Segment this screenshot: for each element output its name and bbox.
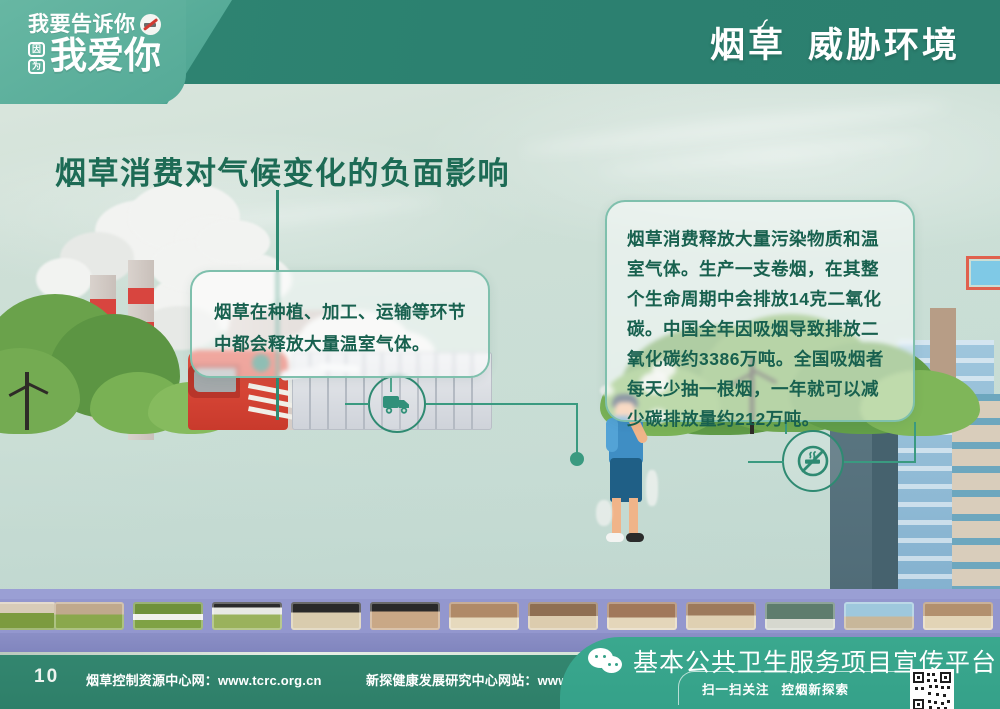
tree-trunk (25, 372, 29, 430)
wechat-icon (588, 648, 624, 674)
exhaled-smoke (646, 470, 658, 506)
footer-site-tcrc[interactable]: 烟草控制资源中心网：www.tcrc.org.cn (86, 670, 322, 689)
guardrail-gap (54, 602, 124, 630)
truck-icon-circle (368, 375, 426, 433)
guardrail-gap (133, 602, 203, 630)
billboard-screen (971, 261, 1000, 285)
guardrail-gap (291, 602, 361, 630)
header-title-part2: 威胁环境 (808, 26, 960, 65)
scan-label: 扫一扫关注控烟新探索 (702, 679, 849, 698)
qr-code[interactable] (910, 669, 954, 709)
wechat-promo-panel: 基本公共卫生服务项目宣传平台 扫一扫关注控烟新探索 (560, 637, 1000, 709)
person-shorts (610, 458, 642, 502)
guardrail-gap (844, 602, 914, 630)
sky-streak (520, 98, 949, 159)
person-shoe (626, 533, 644, 542)
guardrail-gap (370, 602, 440, 630)
connector-line-right-up (914, 422, 916, 463)
logo-line-2: 因 为 我爱你 (28, 38, 192, 74)
guardrail-gap (686, 602, 756, 630)
guardrail-gap (449, 602, 519, 630)
no-smoking-icon (140, 14, 161, 35)
connector-dot (570, 452, 584, 466)
callout-left: 烟草在种植、加工、运输等环节中都会释放大量温室气体。 (190, 270, 490, 378)
person-leg (612, 498, 621, 536)
connector-line-drop (576, 403, 578, 455)
scan-label-explore: 控烟新探索 (782, 683, 850, 697)
person-arm (606, 418, 618, 452)
person-leg (629, 498, 638, 536)
smoke-curl-icon (754, 18, 772, 34)
poster-canvas: 我要告诉你 因 为 我爱你 烟草威胁环境 烟草消费对气候变化的负面影响 (0, 0, 1000, 709)
connector-line-left-tail (345, 403, 369, 405)
guardrail-gap (212, 602, 282, 630)
scan-label-follow: 扫一扫关注 (702, 683, 770, 697)
guardrail-gap (0, 602, 56, 630)
callout-left-text: 烟草在种植、加工、运输等环节中都会释放大量温室气体。 (214, 296, 466, 360)
logo-line2-text: 我爱你 (50, 38, 161, 74)
logo-line1-text: 我要告诉你 (28, 14, 136, 35)
smoke-puff (196, 220, 270, 264)
guardrail-gap (607, 602, 677, 630)
truck-icon (382, 393, 412, 415)
guardrail-gap (923, 602, 993, 630)
logo-reason-char-2: 为 (28, 59, 45, 74)
guardrail-top (0, 589, 1000, 599)
logo-line-1: 我要告诉你 (28, 14, 192, 35)
connector-line-left-right (426, 403, 576, 405)
section-title: 烟草消费对气候变化的负面影响 (55, 148, 510, 193)
logo-reason-char-1: 因 (28, 42, 45, 57)
connector-line-right-tail (748, 461, 784, 463)
no-smoking-icon-circle (782, 430, 844, 492)
callout-right: 烟草消费释放大量污染物质和温室气体。生产一支卷烟，在其整个生命周期中会排放14克… (605, 200, 915, 422)
person-shoe (606, 533, 624, 542)
page-number: 10 (34, 666, 59, 688)
logo-reason-boxes: 因 为 (28, 42, 45, 74)
no-smoking-icon (795, 443, 831, 479)
header-title-part1: 烟草 (710, 26, 786, 65)
guardrail-gap (528, 602, 598, 630)
guardrail-gap (765, 602, 835, 630)
exhaled-smoke (596, 500, 612, 526)
callout-right-text: 烟草消费释放大量污染物质和温室气体。生产一支卷烟，在其整个生命周期中会排放14克… (627, 224, 893, 434)
campaign-logo: 我要告诉你 因 为 我爱你 (28, 14, 192, 90)
page-title: 烟草威胁环境 (710, 17, 960, 68)
connector-line-right-extend (844, 461, 916, 463)
